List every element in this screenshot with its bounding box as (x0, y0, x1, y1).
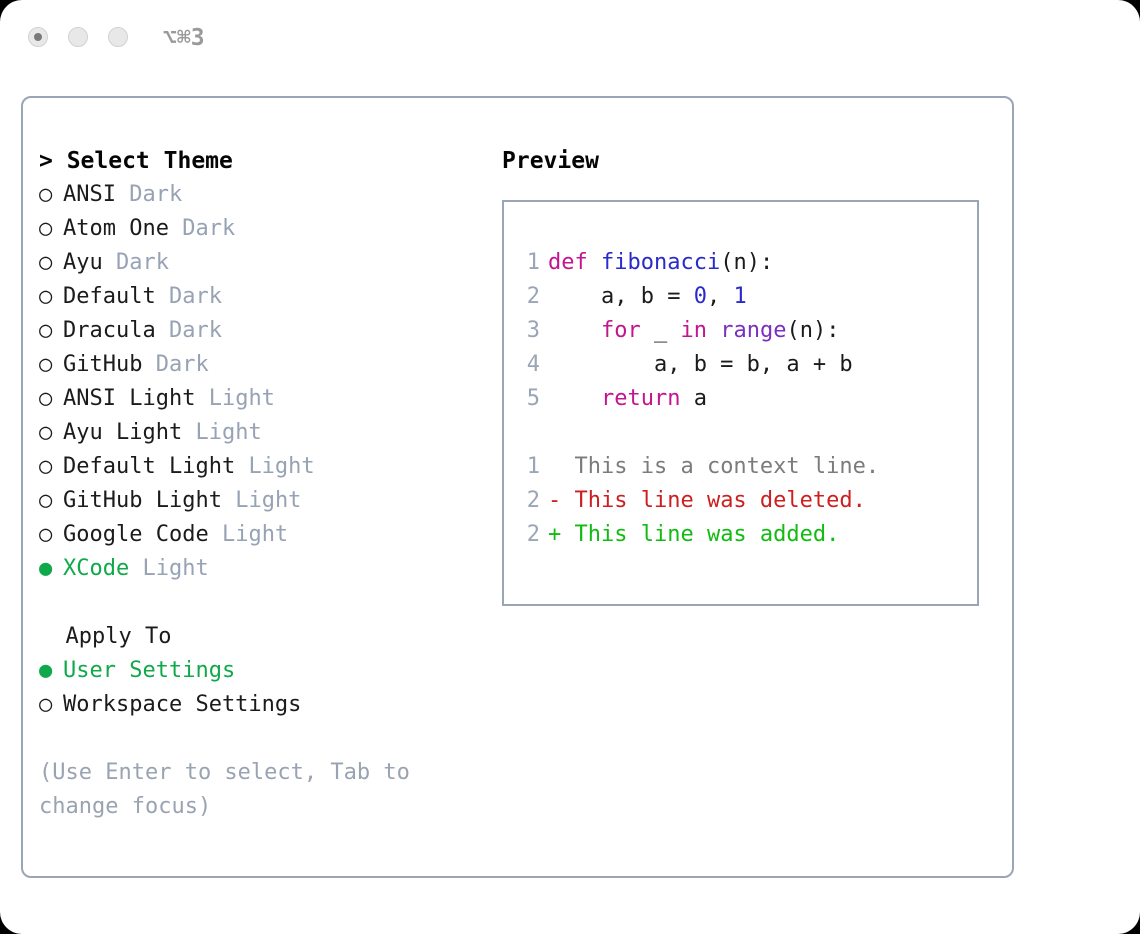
spacer (129, 556, 142, 581)
diff-line-number: 1 (518, 450, 540, 484)
title-bar: ⌥⌘3 (0, 0, 1140, 78)
active-dot-icon (34, 33, 42, 41)
traffic-light-minimize[interactable] (68, 27, 88, 47)
theme-list-item[interactable]: ●XCode Light (39, 552, 489, 586)
code-line-number: 3 (518, 314, 540, 348)
spacer (156, 318, 169, 343)
code-token: return (601, 386, 680, 411)
theme-kind-label: Light (195, 420, 261, 445)
diff-text: This is a context line. (561, 454, 879, 479)
diff-line-number: 2 (518, 484, 540, 518)
code-token: 0 (694, 284, 707, 309)
theme-kind-label: Dark (169, 318, 222, 343)
diff-marker: + (548, 522, 561, 547)
main-panel: > Select Theme ○ANSI Dark○Atom One Dark○… (21, 96, 1014, 878)
theme-name: XCode (63, 556, 129, 581)
radio-unselected-icon: ○ (39, 280, 63, 314)
radio-unselected-icon: ○ (39, 416, 63, 450)
code-token (588, 250, 601, 275)
spacer (235, 454, 248, 479)
radio-unselected-icon: ○ (39, 484, 63, 518)
radio-unselected-icon: ○ (39, 246, 63, 280)
diff-marker: - (548, 488, 561, 513)
spacer (209, 522, 222, 547)
code-line: 4 a, b = b, a + b (518, 348, 971, 382)
select-theme-header: > Select Theme (39, 144, 489, 178)
spacer (103, 250, 116, 275)
radio-unselected-icon: ○ (39, 178, 63, 212)
theme-kind-label: Light (209, 386, 275, 411)
code-token: 1 (733, 284, 746, 309)
theme-list-item[interactable]: ○ANSI Dark (39, 178, 489, 212)
code-token: range (720, 318, 786, 343)
theme-kind-label: Light (222, 522, 288, 547)
theme-kind-label: Dark (129, 182, 182, 207)
radio-unselected-icon: ○ (39, 212, 63, 246)
code-token (548, 386, 601, 411)
apply-to-options: ●User Settings○Workspace Settings (39, 654, 489, 722)
radio-unselected-icon: ○ (39, 518, 63, 552)
theme-kind-label: Light (142, 556, 208, 581)
apply-to-label: User Settings (63, 658, 235, 683)
theme-name: Default (63, 284, 156, 309)
theme-name: Dracula (63, 318, 156, 343)
theme-selector-column: > Select Theme ○ANSI Dark○Atom One Dark○… (39, 144, 489, 824)
apply-to-option[interactable]: ○Workspace Settings (39, 688, 489, 722)
code-line: 2 a, b = 0, 1 (518, 280, 971, 314)
theme-name: Atom One (63, 216, 169, 241)
code-token: def (548, 250, 588, 275)
preview-title: Preview (502, 144, 1002, 178)
theme-list-item[interactable]: ○Dracula Dark (39, 314, 489, 348)
preview-column: Preview 1def fibonacci(n):2 a, b = 0, 13… (502, 144, 1002, 606)
diff-sample: 1 This is a context line.2- This line wa… (518, 450, 971, 552)
theme-list-item[interactable]: ○Google Code Light (39, 518, 489, 552)
code-token: for (601, 318, 641, 343)
diff-line: 2- This line was deleted. (518, 484, 971, 518)
theme-list-item[interactable]: ○GitHub Light Light (39, 484, 489, 518)
diff-line: 2+ This line was added. (518, 518, 971, 552)
code-token: (n): (786, 318, 839, 343)
code-token: a, b = b, a + b (548, 352, 853, 377)
code-line: 3 for _ in range(n): (518, 314, 971, 348)
theme-list-item[interactable]: ○GitHub Dark (39, 348, 489, 382)
traffic-light-maximize[interactable] (108, 27, 128, 47)
apply-to-label: Workspace Settings (63, 692, 301, 717)
code-token (548, 318, 601, 343)
code-line-number: 2 (518, 280, 540, 314)
theme-list-item[interactable]: ○ANSI Light Light (39, 382, 489, 416)
code-line: 5 return a (518, 382, 971, 416)
theme-list-item[interactable]: ○Ayu Dark (39, 246, 489, 280)
spacer (182, 420, 195, 445)
theme-kind-label: Dark (169, 284, 222, 309)
preview-box: 1def fibonacci(n):2 a, b = 0, 13 for _ i… (502, 200, 979, 606)
theme-kind-label: Dark (182, 216, 235, 241)
diff-text: This line was added. (561, 522, 839, 547)
traffic-light-close[interactable] (28, 27, 48, 47)
theme-list-item[interactable]: ○Default Light Light (39, 450, 489, 484)
theme-kind-label: Dark (156, 352, 209, 377)
radio-unselected-icon: ○ (39, 314, 63, 348)
theme-name: Ayu (63, 250, 103, 275)
spacer (116, 182, 129, 207)
keyboard-shortcut-label: ⌥⌘3 (163, 23, 205, 53)
theme-kind-label: Dark (116, 250, 169, 275)
code-token: _ (641, 318, 681, 343)
diff-marker (548, 454, 561, 479)
diff-line: 1 This is a context line. (518, 450, 971, 484)
code-token: a (680, 386, 707, 411)
apply-to-option[interactable]: ●User Settings (39, 654, 489, 688)
spacer (169, 216, 182, 241)
code-token: fibonacci (601, 250, 720, 275)
theme-name: ANSI (63, 182, 116, 207)
code-token: (n): (720, 250, 773, 275)
app-window: ⌥⌘3 > Select Theme ○ANSI Dark○Atom One D… (0, 0, 1140, 934)
apply-to-header: Apply To (39, 620, 489, 654)
code-line: 1def fibonacci(n): (518, 246, 971, 280)
code-sample: 1def fibonacci(n):2 a, b = 0, 13 for _ i… (518, 246, 971, 552)
spacer (142, 352, 155, 377)
radio-selected-icon: ● (39, 552, 63, 586)
keyboard-hint-text: (Use Enter to select, Tab to change focu… (39, 756, 449, 824)
theme-name: Ayu Light (63, 420, 182, 445)
theme-kind-label: Light (235, 488, 301, 513)
code-line-number: 4 (518, 348, 540, 382)
code-token: a, b = (548, 284, 694, 309)
code-line-number: 1 (518, 246, 540, 280)
code-token (707, 318, 720, 343)
radio-unselected-icon: ○ (39, 382, 63, 416)
radio-selected-icon: ● (39, 654, 63, 688)
theme-name: GitHub Light (63, 488, 222, 513)
apply-to-section: Apply To ●User Settings○Workspace Settin… (39, 620, 489, 722)
theme-list-item[interactable]: ○Default Dark (39, 280, 489, 314)
theme-name: Google Code (63, 522, 209, 547)
theme-name: Default Light (63, 454, 235, 479)
radio-unselected-icon: ○ (39, 688, 63, 722)
theme-name: GitHub (63, 352, 142, 377)
radio-unselected-icon: ○ (39, 348, 63, 382)
theme-list-item[interactable]: ○Atom One Dark (39, 212, 489, 246)
diff-line-number: 2 (518, 518, 540, 552)
code-token: in (680, 318, 707, 343)
theme-name: ANSI Light (63, 386, 195, 411)
spacer (156, 284, 169, 309)
radio-unselected-icon: ○ (39, 450, 63, 484)
code-line-number: 5 (518, 382, 540, 416)
spacer (195, 386, 208, 411)
diff-text: This line was deleted. (561, 488, 866, 513)
code-token: , (707, 284, 734, 309)
theme-list-item[interactable]: ○Ayu Light Light (39, 416, 489, 450)
spacer (222, 488, 235, 513)
theme-kind-label: Light (248, 454, 314, 479)
theme-list: ○ANSI Dark○Atom One Dark○Ayu Dark○Defaul… (39, 178, 489, 586)
